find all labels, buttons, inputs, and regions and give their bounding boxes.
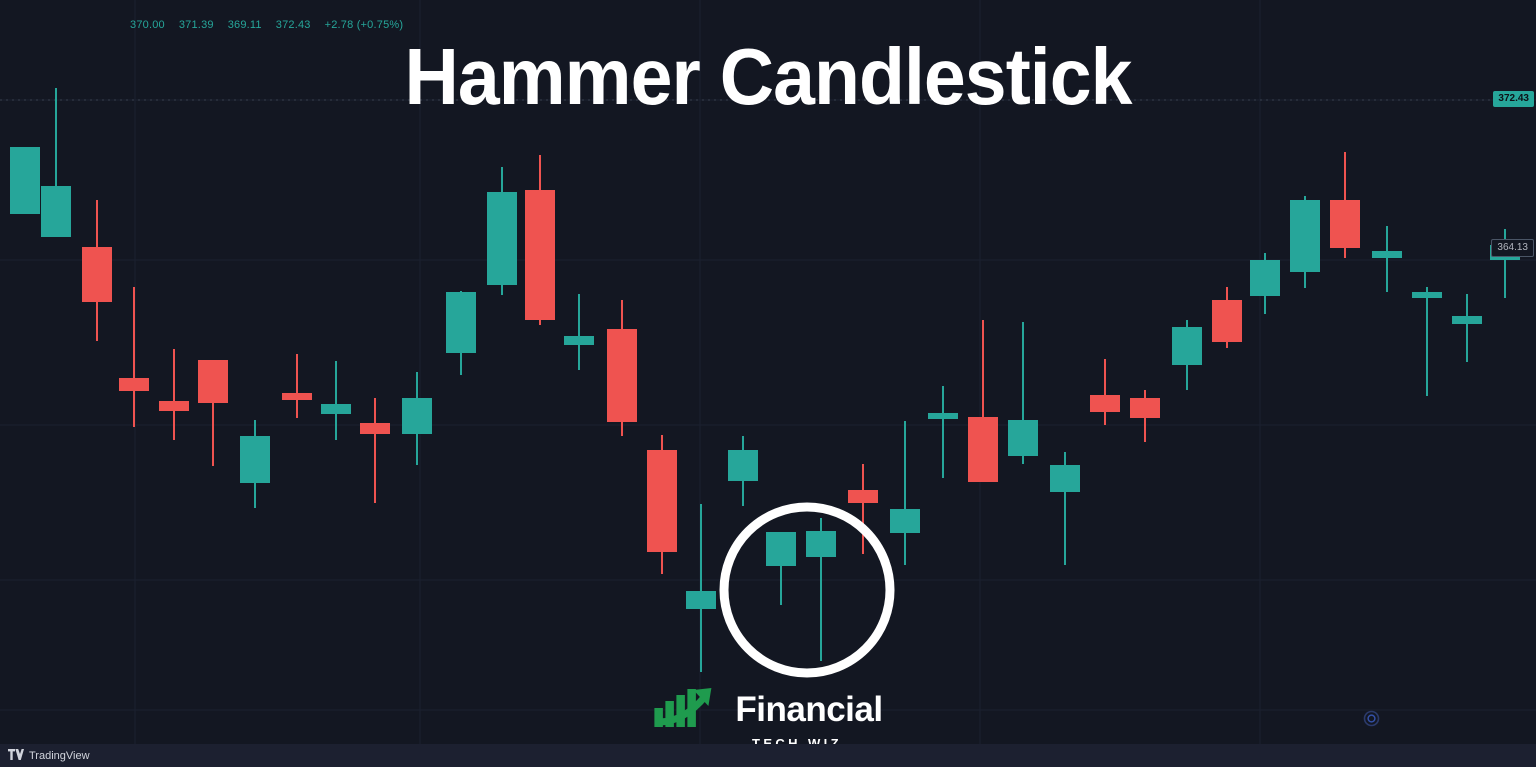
candle-body — [686, 591, 716, 609]
candle-body — [848, 490, 878, 503]
candle-body — [1172, 327, 1202, 365]
candle-body — [402, 398, 432, 434]
watermark-row: Financial — [653, 686, 882, 733]
candle-body — [198, 360, 228, 403]
candle-body — [1330, 200, 1360, 248]
candle-body — [487, 192, 517, 285]
watermark-word: Financial — [735, 692, 882, 728]
candle-body — [119, 378, 149, 391]
price-level-tag: 364.13 — [1491, 239, 1534, 257]
candle-body — [282, 393, 312, 400]
tradingview-logo-icon — [8, 747, 24, 765]
bar-chart-arrow-icon — [653, 686, 725, 733]
candle-body — [10, 147, 40, 214]
brand-bar: TradingView — [0, 744, 1536, 767]
candle-body — [82, 247, 112, 302]
tradingview-attribution[interactable]: TradingView — [8, 747, 90, 765]
candle-body — [525, 190, 555, 320]
candle-body — [1290, 200, 1320, 272]
candle-body — [41, 186, 71, 237]
candle-body — [928, 413, 958, 419]
candle-body — [1412, 292, 1442, 298]
candle-body — [1008, 420, 1038, 456]
candle-body — [240, 436, 270, 483]
candle-body — [1250, 260, 1280, 296]
candle-body — [321, 404, 351, 414]
candle-body — [728, 450, 758, 481]
candle-body — [1212, 300, 1242, 342]
chart-screenshot: 370.00 371.39 369.11 372.43 +2.78 (+0.75… — [0, 0, 1536, 767]
tradingview-label: TradingView — [29, 750, 90, 762]
last-price-tag: 372.43 — [1493, 91, 1534, 107]
candle-body — [607, 329, 637, 422]
page-title: Hammer Candlestick — [46, 30, 1490, 124]
candle-body — [360, 423, 390, 434]
candle-body — [647, 450, 677, 552]
info-circle-icon[interactable] — [1363, 710, 1380, 727]
candle-body — [1372, 251, 1402, 258]
candle-body — [159, 401, 189, 411]
hammer-candle-body — [806, 531, 836, 557]
candle-body — [1130, 398, 1160, 418]
candle-body — [890, 509, 920, 533]
watermark-logo: Financial TECH WIZ — [653, 686, 882, 751]
candle-body — [1090, 395, 1120, 412]
candle-body — [446, 292, 476, 353]
candle-body — [564, 336, 594, 345]
candle-body — [1050, 465, 1080, 492]
candle-body — [1452, 316, 1482, 324]
hammer-candle-body — [766, 532, 796, 566]
candle-body — [968, 417, 998, 482]
